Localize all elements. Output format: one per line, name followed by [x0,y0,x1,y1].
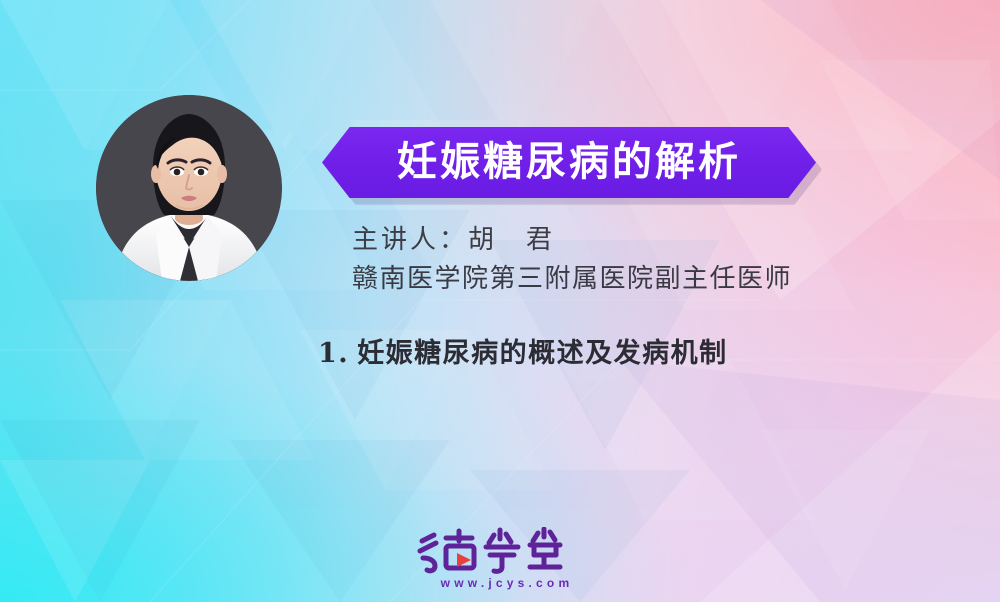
brand-logo: www.jcys.com [410,527,600,597]
section-heading: 1.妊娠糖尿病的概述及发病机制 [318,331,728,370]
speaker-portrait [96,95,282,281]
brand-logo-mark [410,527,600,575]
title-ribbon-body: 妊娠糖尿病的解析 [322,127,816,198]
speaker-info: 主讲人：胡 君 赣南医学院第三附属医院副主任医师 [352,222,822,296]
page-title: 妊娠糖尿病的解析 [397,142,741,184]
presenter-affiliation: 赣南医学院第三附属医院副主任医师 [352,261,822,296]
background-color-wash [0,0,1000,602]
section-heading-text: 妊娠糖尿病的概述及发病机制 [357,338,728,369]
section-number: 1. [318,338,349,369]
slide-canvas: 妊娠糖尿病的解析 主讲人：胡 君 赣南医学院第三附属医院副主任医师 1.妊娠糖尿… [0,0,1000,602]
title-ribbon: 妊娠糖尿病的解析 [322,127,816,201]
brand-url: www.jcys.com [410,576,600,590]
presenter-name: 主讲人：胡 君 [352,222,822,257]
